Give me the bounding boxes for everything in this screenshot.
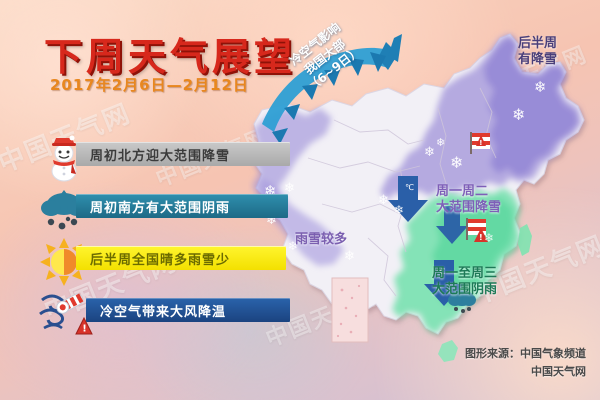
- china-weather-map: ℃ ℃ ! !: [248, 28, 600, 376]
- svg-text:❄: ❄: [344, 249, 355, 264]
- svg-text:❄: ❄: [512, 105, 525, 124]
- svg-text:℃: ℃: [405, 183, 414, 192]
- date-range: 2017年2月6日—2月12日: [50, 74, 249, 95]
- svg-text:❄: ❄: [484, 231, 494, 245]
- source-credit: 图形来源：中国气象频道 中国天气网: [465, 345, 586, 382]
- svg-text:❄: ❄: [534, 78, 547, 96]
- legend-label-cold-wind: 冷空气带来大风降温: [86, 298, 290, 322]
- legend-label-snow: 周初北方迎大范围降雪: [76, 142, 290, 166]
- source-line-2: 中国天气网: [465, 363, 586, 382]
- thermometer-icon: [55, 292, 85, 316]
- svg-text:!: !: [479, 233, 483, 242]
- svg-text:❄: ❄: [450, 153, 463, 172]
- svg-text:❄: ❄: [424, 145, 435, 160]
- map-label-rain-region: 周一至周三大范围阴雨: [432, 266, 497, 298]
- legend-item-sunny[interactable]: 后半周全国晴多雨雪少: [38, 236, 270, 288]
- legend-list: 周初北方迎大范围降雪 周初南方有大范围阴雨: [38, 132, 270, 340]
- svg-text:!: !: [82, 324, 87, 335]
- map-label-northeast: 后半周有降雪: [518, 36, 557, 68]
- svg-text:❄: ❄: [394, 203, 404, 217]
- legend-item-cold-wind[interactable]: ! 冷空气带来大风降温: [38, 288, 270, 340]
- svg-text:❄: ❄: [378, 193, 389, 208]
- south-china-sea-inset: [332, 278, 368, 342]
- svg-text:❄: ❄: [436, 136, 445, 149]
- legend-label-rain: 周初南方有大范围阴雨: [76, 194, 288, 218]
- legend-item-rain[interactable]: 周初南方有大范围阴雨: [38, 184, 270, 236]
- page-title: 下周天气展望: [44, 26, 296, 81]
- legend-label-sunny: 后半周全国晴多雨雪少: [76, 246, 286, 270]
- svg-text:!: !: [479, 139, 482, 147]
- legend-item-snow[interactable]: 周初北方迎大范围降雪: [38, 132, 270, 184]
- source-line-1: 图形来源：中国气象频道: [465, 345, 586, 364]
- map-label-snow-region: 周一周二大范围降雪: [436, 184, 501, 216]
- map-label-west-region: 雨雪较多: [295, 232, 347, 248]
